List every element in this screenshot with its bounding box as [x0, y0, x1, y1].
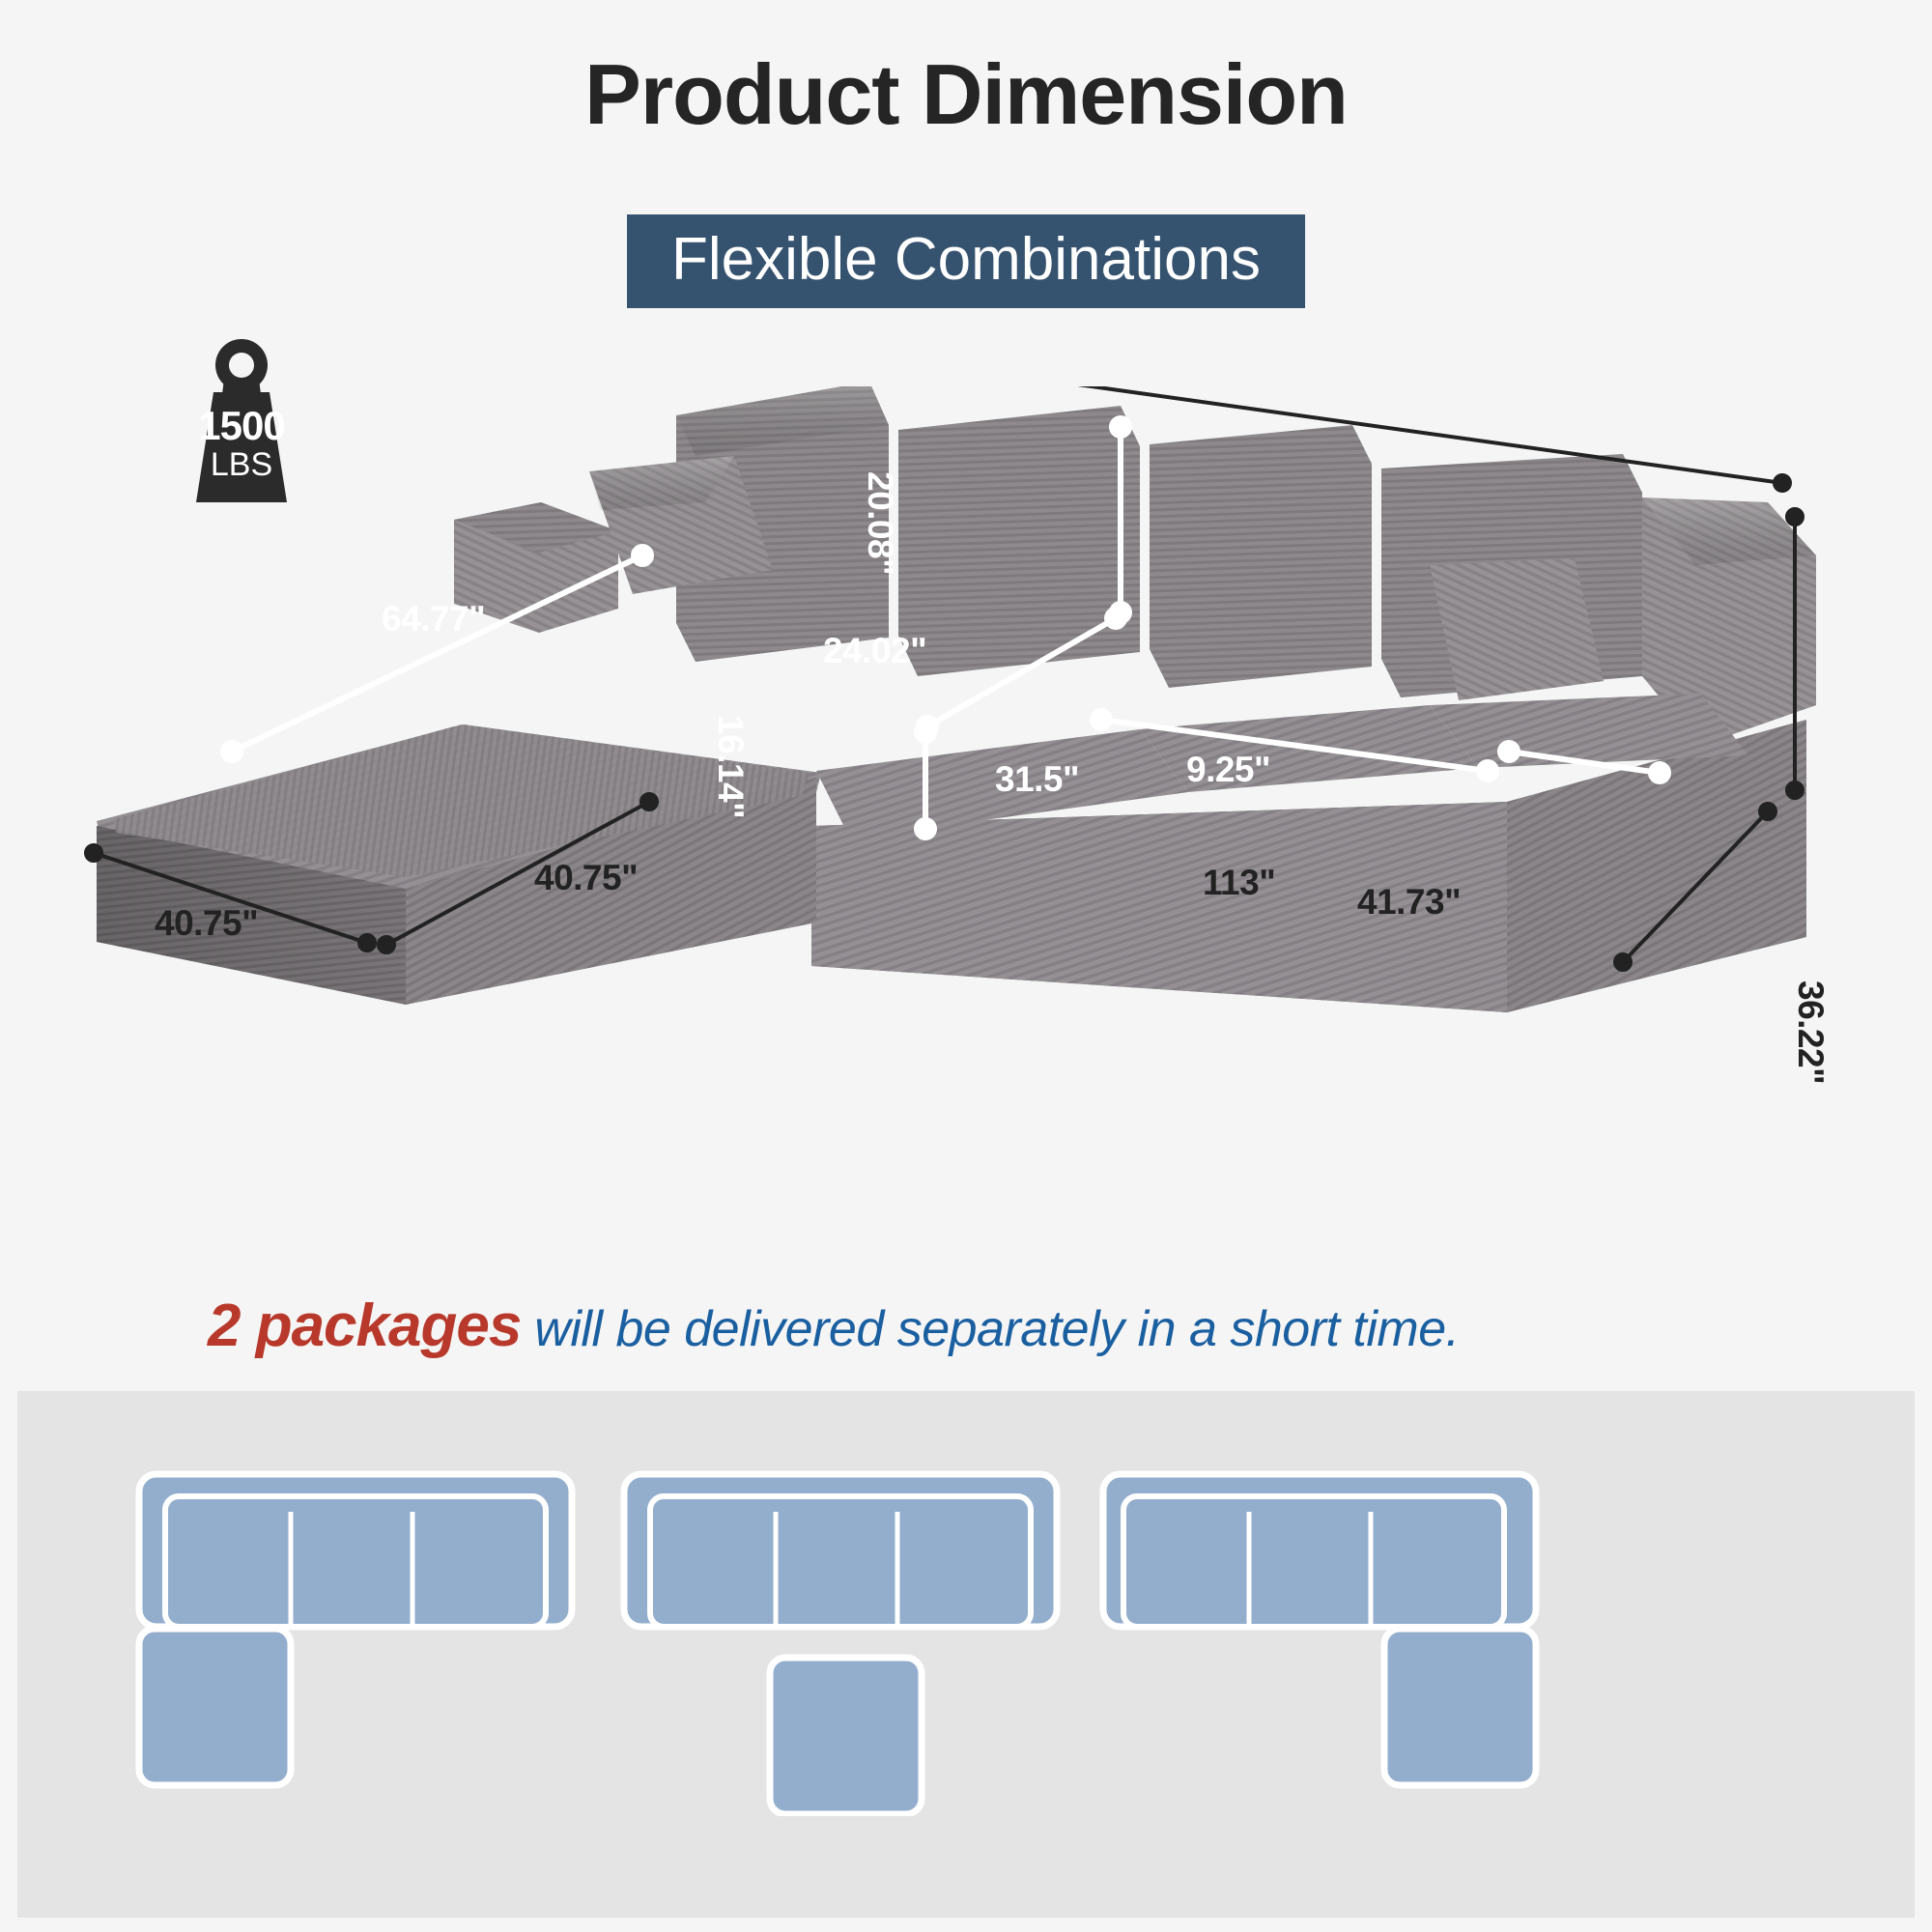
back-cushion-3 — [1150, 425, 1372, 688]
combination-option-center[interactable] — [618, 1468, 1072, 1816]
package-count-text: 2 packages — [208, 1293, 521, 1359]
dim-label-armrest-width: 9.25" — [1186, 752, 1270, 787]
combo-center-diagram — [618, 1468, 1072, 1816]
dim-label-chaise-width-front: 40.75" — [534, 860, 638, 895]
sofa-drawing — [0, 386, 1932, 1256]
combination-options-panel — [17, 1391, 1915, 1918]
dim-label-overall-width: 113" — [1203, 865, 1275, 900]
throw-pillow-right — [1430, 558, 1604, 700]
product-illustration: 113" 36.22" 40.75" 40.75" 41.73" 64.77" … — [0, 386, 1932, 1256]
dim-label-seat-width: 31.5" — [995, 761, 1079, 797]
delivery-note: 2 packages will be delivered separately … — [208, 1292, 1460, 1360]
combination-option-left[interactable] — [133, 1468, 587, 1816]
subtitle-banner: Flexible Combinations — [627, 214, 1305, 308]
combination-option-right[interactable] — [1097, 1468, 1551, 1816]
page-title: Product Dimension — [0, 48, 1932, 142]
dimline-chaise-length — [223, 547, 651, 760]
dim-label-overall-height: 36.22" — [1793, 980, 1829, 1084]
delivery-note-rest: will be delivered separately in a short … — [521, 1301, 1459, 1357]
back-cushion-2 — [898, 406, 1140, 676]
combo-left-diagram — [133, 1468, 587, 1816]
dim-label-backrest-height: 20.08" — [863, 471, 898, 575]
combo-right-diagram — [1097, 1468, 1551, 1816]
product-dimension-infographic: Product Dimension Flexible Combinations … — [0, 0, 1932, 1932]
dim-label-sofa-depth-right: 41.73" — [1357, 884, 1461, 920]
dim-label-seat-height: 16.14" — [713, 715, 749, 818]
subtitle-text: Flexible Combinations — [671, 228, 1261, 291]
dim-label-chaise-length: 64.77" — [382, 601, 485, 637]
dim-label-chaise-depth-left: 40.75" — [155, 905, 258, 941]
dim-label-seat-depth: 24.02" — [823, 633, 926, 668]
